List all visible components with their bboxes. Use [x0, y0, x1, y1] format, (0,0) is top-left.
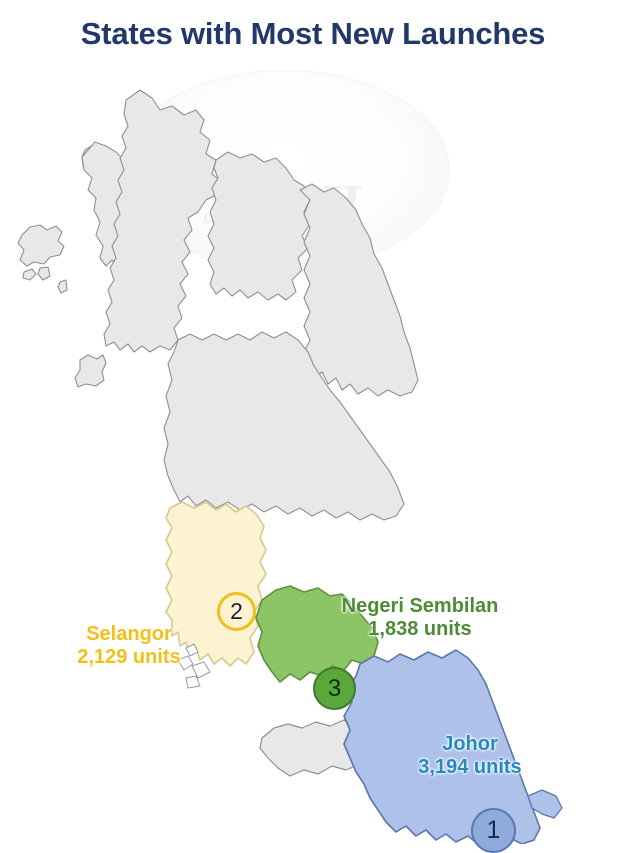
map-island-small-a	[23, 269, 36, 280]
peninsular-malaysia-map	[0, 60, 626, 844]
map-state-perak	[104, 90, 222, 352]
rank-badge-negeri-sembilan[interactable]: 3	[313, 667, 356, 710]
state-name-negeri-sembilan: Negeri Sembilan	[300, 595, 540, 618]
map-island-small-c	[58, 280, 67, 293]
map-island-small-b	[38, 267, 50, 280]
map-state-kelantan	[208, 152, 310, 300]
state-name-johor: Johor	[375, 733, 565, 756]
page-title: States with Most New Launches	[81, 14, 545, 54]
state-label-johor: Johor 3,194 units	[375, 733, 565, 779]
map-state-terengganu	[300, 184, 418, 396]
map-island-langkawi	[18, 225, 64, 266]
map-container: JPPH	[0, 60, 626, 844]
title-bar: States with Most New Launches	[0, 14, 626, 54]
state-value-negeri-sembilan: 1,838 units	[300, 618, 540, 641]
state-label-selangor: Selangor 2,129 units	[14, 623, 244, 669]
state-value-johor: 3,194 units	[375, 756, 565, 779]
state-label-negeri-sembilan: Negeri Sembilan 1,838 units	[300, 595, 540, 641]
rank-badge-johor[interactable]: 1	[471, 808, 516, 853]
state-name-selangor: Selangor	[14, 623, 244, 646]
slide-canvas: States with Most New Launches JPPH	[0, 0, 626, 844]
state-value-selangor: 2,129 units	[14, 646, 244, 669]
map-island-penang	[75, 355, 106, 387]
